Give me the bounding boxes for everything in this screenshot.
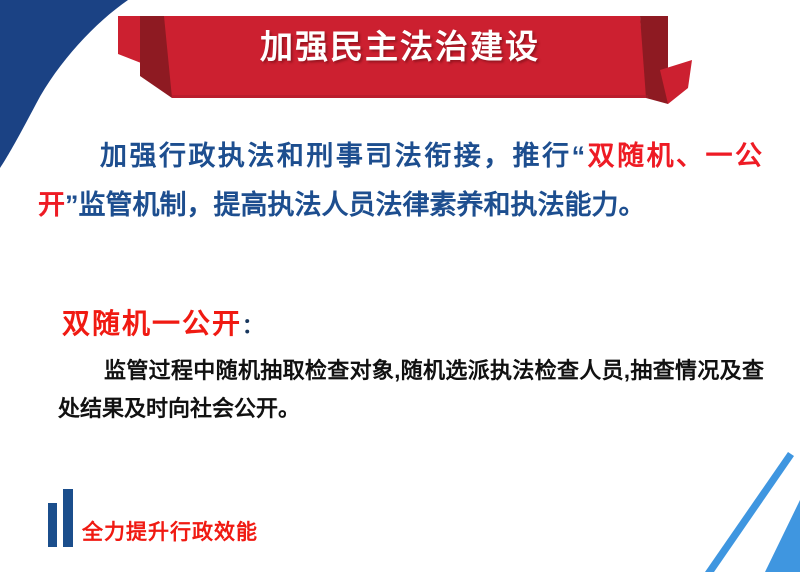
header-ribbon: 加强民主法治建设 — [0, 0, 800, 115]
definition-paragraph: 监管过程中随机抽取检查对象,随机选派执法检查人员,抽查情况及查处结果及时向社会公… — [58, 352, 764, 428]
intro-segment-2: 监管机制，提高执法人员法律素养和执法能力。 — [79, 190, 646, 220]
ribbon-band-shadow — [172, 95, 648, 98]
term-title: 双随机一公开 — [62, 308, 242, 339]
slide-page: 加强民主法治建设 加强行政执法和刑事司法衔接，推行“双随机、一公开”监管机制，提… — [0, 0, 800, 572]
intro-quote-close: ” — [65, 190, 79, 220]
page-title: 加强民主法治建设 — [0, 27, 800, 67]
footer-bar-short — [48, 503, 57, 547]
footer-bar-tall — [63, 489, 73, 547]
footer-label: 全力提升行政效能 — [82, 516, 258, 546]
footer-bars-icon — [48, 489, 78, 547]
intro-segment-1: 加强行政执法和刑事司法衔接，推行 — [100, 141, 572, 171]
term-colon: ： — [242, 315, 263, 338]
intro-paragraph: 加强行政执法和刑事司法衔接，推行“双随机、一公开”监管机制，提高执法人员法律素养… — [38, 132, 762, 230]
corner-slash-thick — [765, 500, 800, 572]
corner-slash-thin — [705, 452, 794, 572]
term-heading: 双随机一公开： — [62, 302, 762, 342]
intro-quote-open: “ — [572, 141, 586, 171]
